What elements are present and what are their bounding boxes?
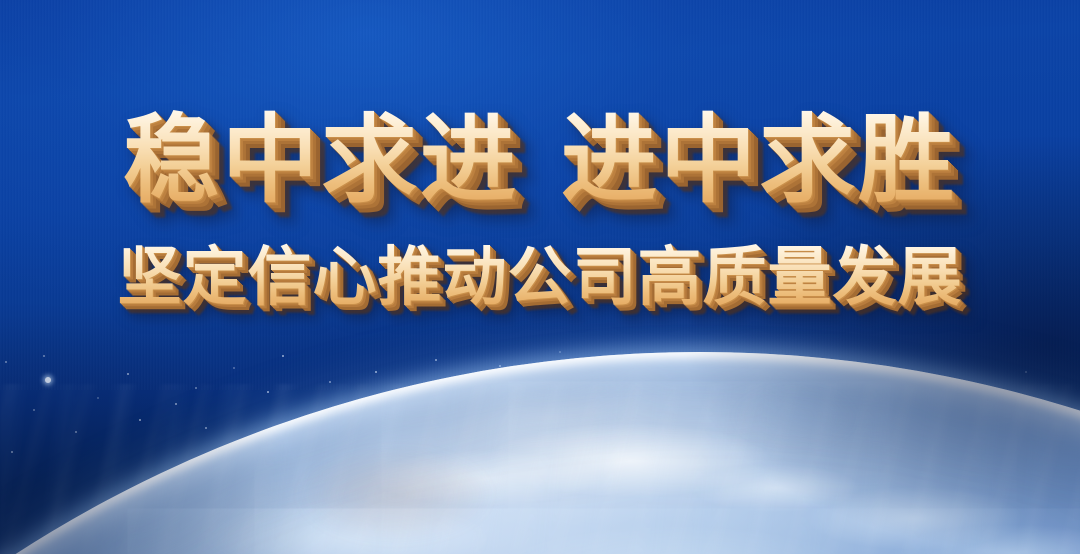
headline-phrase-1: 稳中求进 [123,107,519,214]
promotional-banner: 稳中求进进中求胜 坚定信心推动公司高质量发展 [0,0,1080,554]
headline-phrase-2: 进中求胜 [561,107,957,214]
headline: 稳中求进进中求胜 [0,112,1080,210]
subheadline-text: 坚定信心推动公司高质量发展 [118,241,963,313]
banner-text-block: 稳中求进进中求胜 坚定信心推动公司高质量发展 [0,112,1080,311]
subheadline: 坚定信心推动公司高质量发展 [0,244,1080,311]
